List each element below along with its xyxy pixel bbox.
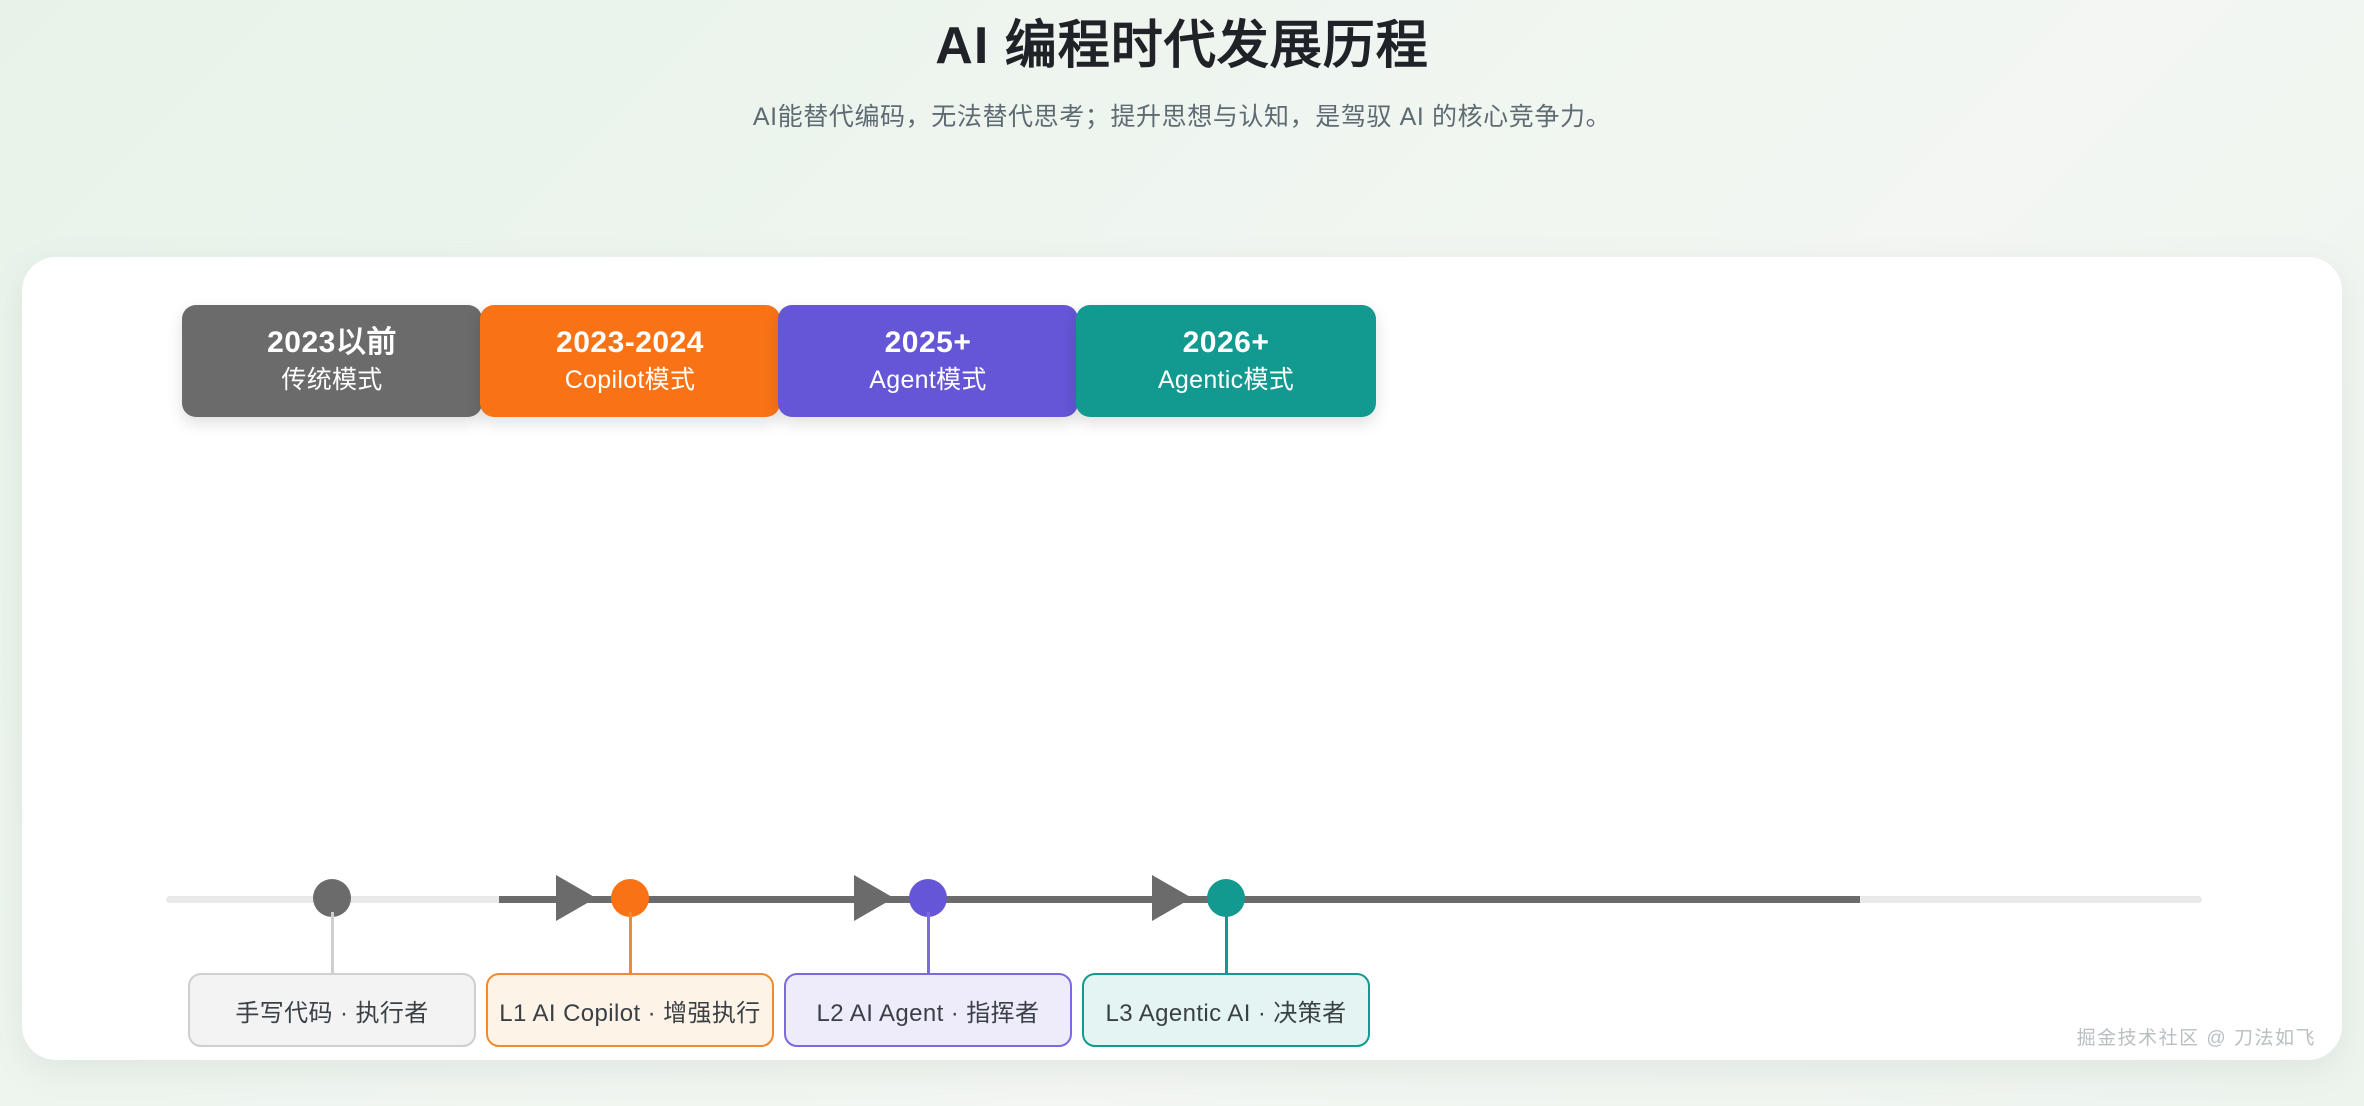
era-mode: Copilot模式	[565, 364, 696, 397]
era-mode: Agentic模式	[1158, 364, 1294, 397]
page-subtitle: AI能替代编码，无法替代思考；提升思想与认知，是驾驭 AI 的核心竞争力。	[0, 97, 2364, 133]
arrow-right-icon	[556, 875, 596, 921]
page-header: AI 编程时代发展历程 AI能替代编码，无法替代思考；提升思想与认知，是驾驭 A…	[0, 0, 2364, 133]
era-mode: Agent模式	[869, 364, 986, 397]
role-chip[interactable]: L1 AI Copilot · 增强执行	[486, 973, 774, 1047]
era-card[interactable]: 2025+Agent模式	[778, 305, 1078, 417]
watermark: 掘金技术社区 @ 刀法如飞	[2077, 1023, 2316, 1050]
connector-line	[331, 912, 334, 974]
era-card[interactable]: 2026+Agentic模式	[1076, 305, 1376, 417]
era-years: 2025+	[885, 326, 972, 361]
era-card[interactable]: 2023以前传统模式	[182, 305, 482, 417]
timeline-panel: 2023以前传统模式手写代码 · 执行者2023-2024Copilot模式L1…	[22, 257, 2342, 1060]
era-years: 2026+	[1183, 326, 1270, 361]
role-chip[interactable]: L3 Agentic AI · 决策者	[1082, 973, 1370, 1047]
connector-line	[629, 912, 632, 974]
era-years: 2023以前	[267, 326, 397, 361]
arrow-right-icon	[1152, 875, 1192, 921]
connector-line	[927, 912, 930, 974]
era-card[interactable]: 2023-2024Copilot模式	[480, 305, 780, 417]
page-title: AI 编程时代发展历程	[0, 14, 2364, 79]
role-chip[interactable]: L2 AI Agent · 指挥者	[784, 973, 1072, 1047]
arrow-right-icon	[854, 875, 894, 921]
role-chip[interactable]: 手写代码 · 执行者	[188, 973, 476, 1047]
era-mode: 传统模式	[281, 364, 382, 397]
era-years: 2023-2024	[556, 326, 704, 361]
connector-line	[1225, 912, 1228, 974]
timeline: 2023以前传统模式手写代码 · 执行者2023-2024Copilot模式L1…	[22, 257, 2342, 1060]
